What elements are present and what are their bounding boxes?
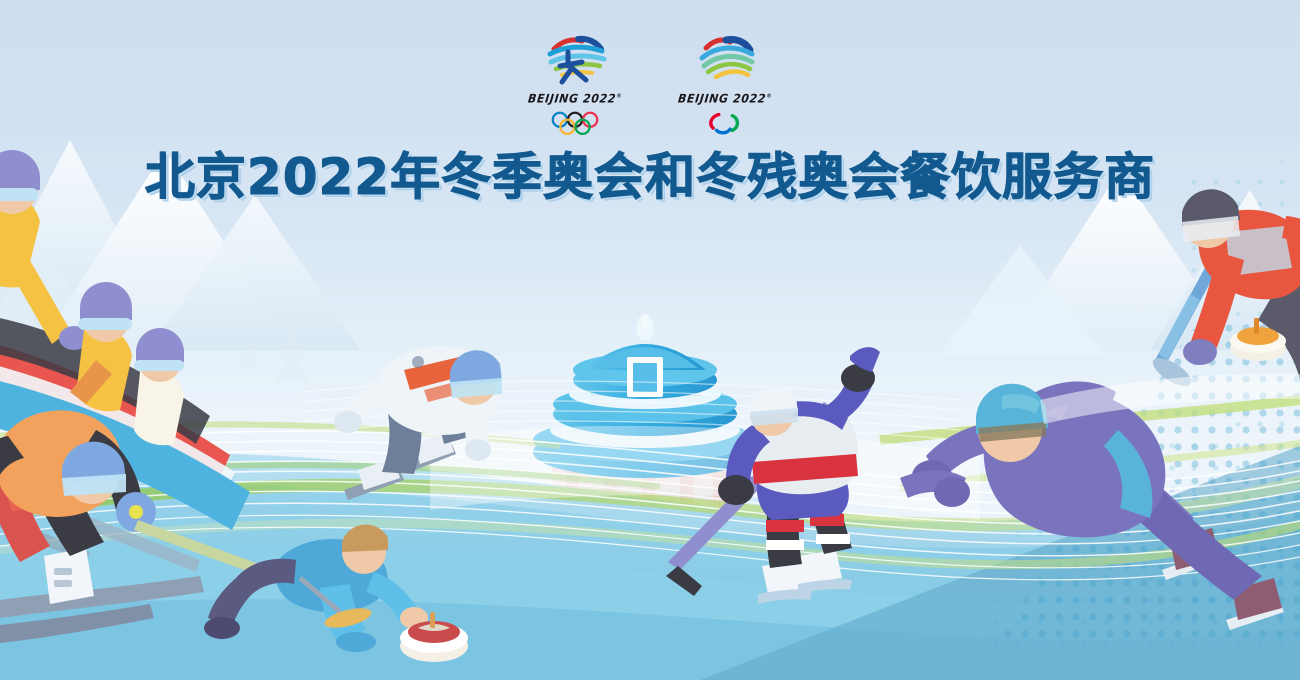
beijing-2022-catering-sponsor-banner: BEIJING 2022® [0,0,1300,680]
page-title-wrap: 北京2022年冬季奥会和冬残奥会餐饮服务商 [0,137,1300,209]
olympic-logo-block: BEIJING 2022® [528,32,622,136]
page-title: 北京2022年冬季奥会和冬残奥会餐饮服务商 [145,137,1155,209]
emblem-row: BEIJING 2022® [0,32,1300,136]
olympic-wordmark: BEIJING 2022® [528,91,623,105]
paralympic-agitos-icon [695,110,755,136]
beijing-2022-winter-paralympics-emblem [688,32,762,88]
beijing-2022-winter-olympics-emblem [538,32,612,88]
olympic-rings-icon [538,110,612,136]
paralympic-logo-block: BEIJING 2022® [678,32,772,136]
paralympic-wordmark: BEIJING 2022® [677,91,772,105]
